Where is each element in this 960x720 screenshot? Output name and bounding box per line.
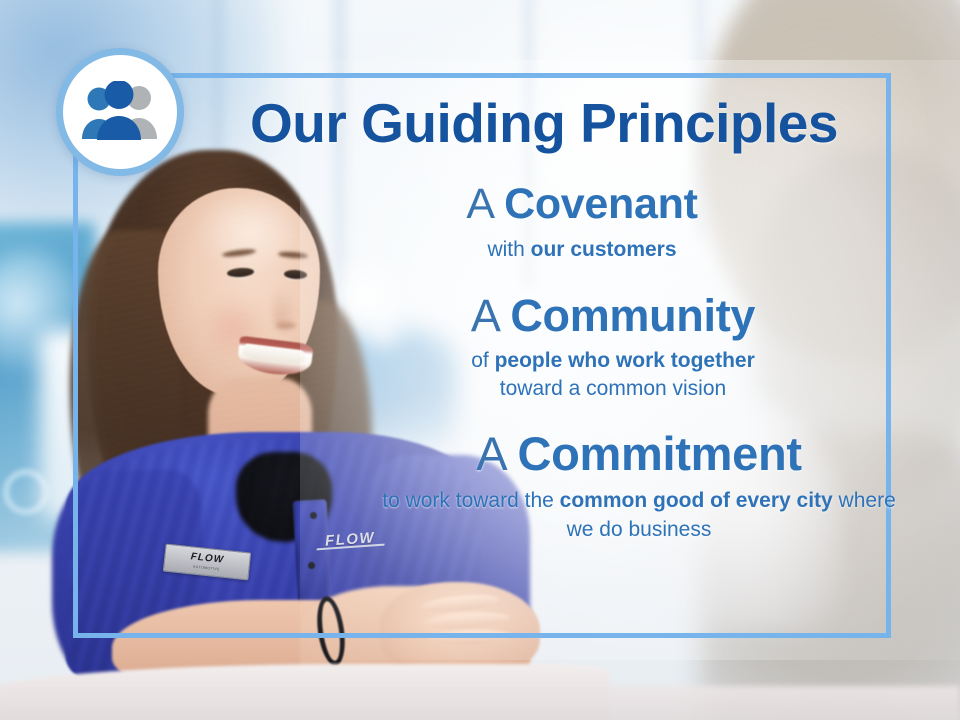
principle-title: A Covenant (264, 182, 900, 228)
principle-keyword: Community (510, 290, 755, 341)
principle-title: A Community (326, 292, 900, 340)
principle-keyword: Commitment (518, 427, 802, 480)
people-group-icon (77, 81, 163, 143)
principles-list: A Covenant with our customers A Communit… (300, 182, 900, 549)
principle-description: of people who work togethertoward a comm… (326, 347, 900, 403)
page-title: Our Guiding Principles (208, 96, 880, 151)
principle-item: A Covenant with our customers (264, 182, 900, 264)
principle-article: A (476, 427, 504, 480)
principle-description: with our customers (264, 236, 900, 264)
principle-item: A Community of people who work togethert… (326, 292, 900, 404)
principle-title: A Commitment (378, 429, 900, 479)
desk-surface (0, 686, 960, 720)
principle-article: A (471, 290, 498, 341)
badge-circle (56, 48, 184, 176)
promotional-graphic: FLOW AUTOMOTIVE FLOW Our Guiding Princip… (0, 0, 960, 720)
principle-keyword: Covenant (504, 180, 698, 228)
principle-item: A Commitment to work toward the common g… (378, 429, 900, 545)
principle-description: to work toward the common good of every … (378, 487, 900, 545)
principle-article: A (466, 180, 492, 228)
name-tag-subtext: AUTOMOTIVE (193, 564, 220, 571)
